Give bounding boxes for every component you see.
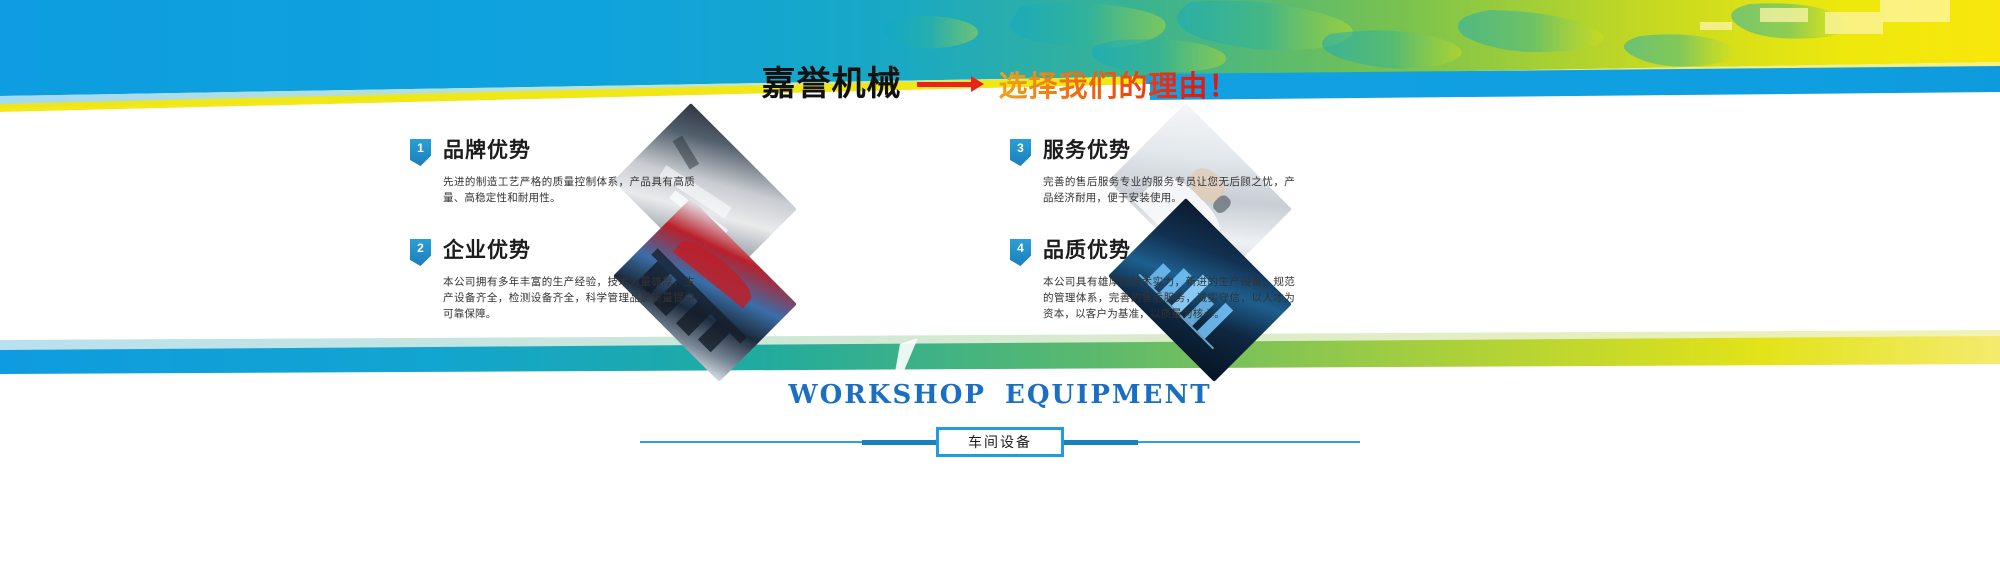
feature-description: 本公司拥有多年丰富的生产经验，技术力量雄厚，生产设备齐全，检测设备齐全，科学管理… <box>443 274 695 322</box>
number-badge-icon: 1 <box>410 139 431 166</box>
brand-title: 嘉誉机械 <box>761 67 901 101</box>
divider-thick-left <box>862 440 936 445</box>
feature-title: 服务优势 <box>1043 138 1131 162</box>
feature-item-2: 2 企业优势 本公司拥有多年丰富的生产经验，技术力量雄厚，生产设备齐全，检测设备… <box>410 238 910 333</box>
feature-description: 完善的售后服务专业的服务专员让您无后顾之忧，产品经济耐用，便于安装使用。 <box>1043 174 1295 206</box>
badge-number: 3 <box>1010 141 1031 156</box>
footer-english-title: WORKSHOP EQUIPMENT <box>0 380 2000 410</box>
header-title-row: 嘉誉机械 选择我们的理由！ <box>0 60 2000 108</box>
number-badge-icon: 4 <box>1010 239 1031 266</box>
number-badge-icon: 2 <box>410 239 431 266</box>
footer-section: WORKSHOP EQUIPMENT 车间设备 <box>0 372 2000 577</box>
divider-thick-right <box>1064 440 1138 445</box>
divider-line-left <box>640 441 862 443</box>
arrow-line <box>917 82 971 87</box>
number-badge-icon: 3 <box>1010 139 1031 166</box>
feature-title: 企业优势 <box>443 238 531 262</box>
badge-number: 2 <box>410 241 431 256</box>
feature-header: 1 品牌优势 <box>410 138 910 168</box>
feature-title: 品质优势 <box>1043 238 1131 262</box>
footer-divider: 车间设备 <box>0 422 2000 462</box>
feature-description: 本公司具有雄厚的技术实力，新进的生产设备，规范的管理体系，完善的售后服务，诚实守… <box>1043 274 1295 322</box>
feature-item-3: 3 服务优势 完善的售后服务专业的服务专员让您无后顾之忧，产品经济耐用，便于安装… <box>1010 138 1510 233</box>
feature-header: 2 企业优势 <box>410 238 910 268</box>
right-arrow-icon <box>917 76 984 92</box>
divider-line-right <box>1138 441 1360 443</box>
feature-item-4: 4 品质优势 本公司具有雄厚的技术实力，新进的生产设备，规范的管理体系，完善的售… <box>1010 238 1510 333</box>
feature-header: 3 服务优势 <box>1010 138 1510 168</box>
footer-chinese-title: 车间设备 <box>936 427 1064 457</box>
arrow-head <box>971 76 984 92</box>
feature-title: 品牌优势 <box>443 138 531 162</box>
badge-number: 4 <box>1010 241 1031 256</box>
promo-banner-page: 嘉誉机械 选择我们的理由！ 1 品牌优势 先进的制造工艺严格的质量控制体系，产品… <box>0 0 2000 577</box>
feature-description: 先进的制造工艺严格的质量控制体系，产品具有高质量、高稳定性和耐用性。 <box>443 174 695 206</box>
feature-header: 4 品质优势 <box>1010 238 1510 268</box>
feature-grid: 1 品牌优势 先进的制造工艺严格的质量控制体系，产品具有高质量、高稳定性和耐用性… <box>410 138 1610 338</box>
badge-number: 1 <box>410 141 431 156</box>
feature-item-1: 1 品牌优势 先进的制造工艺严格的质量控制体系，产品具有高质量、高稳定性和耐用性… <box>410 138 910 233</box>
tagline: 选择我们的理由！ <box>998 63 1238 105</box>
